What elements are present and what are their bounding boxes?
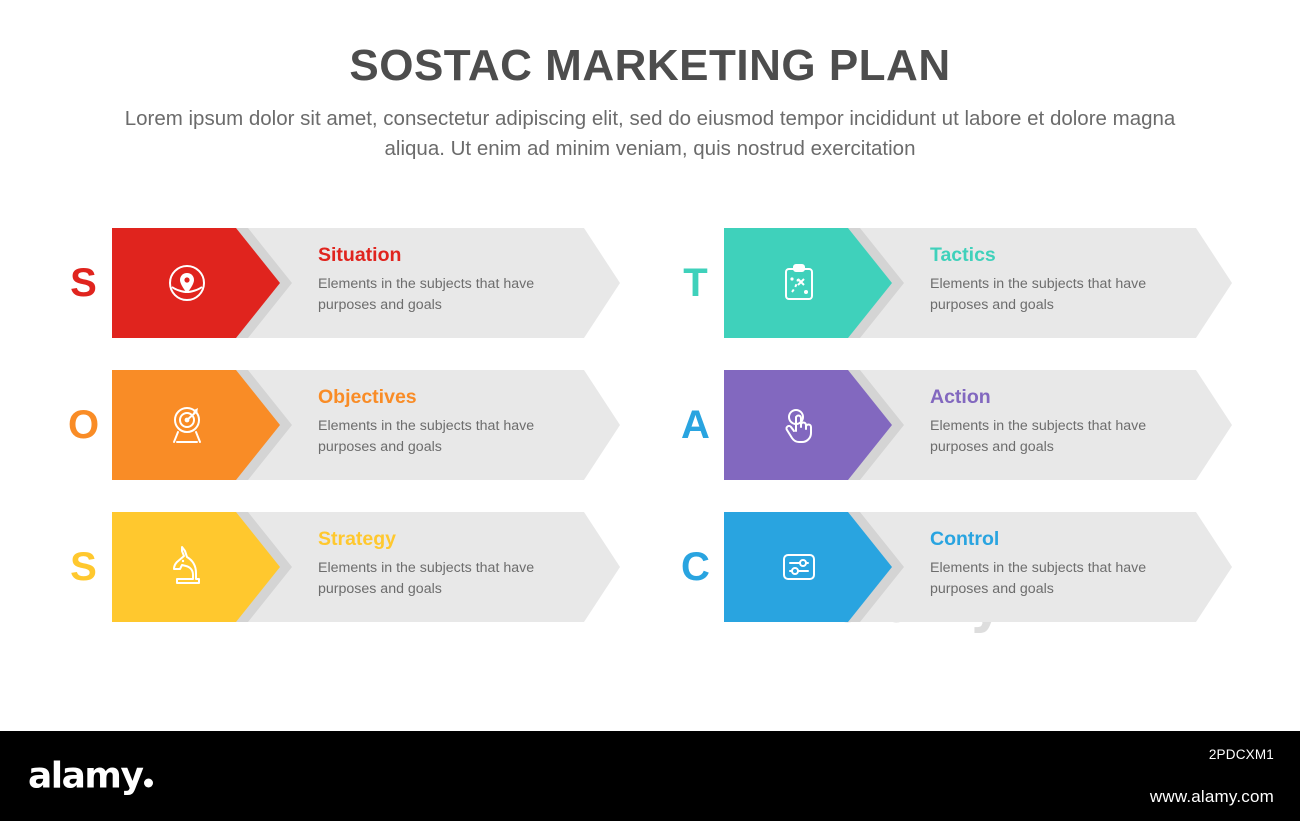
alamy-footer-bar: alamy 2PDCXM1 www.alamy.com <box>0 731 1300 821</box>
item-title: Objectives <box>318 386 568 409</box>
item-title: Situation <box>318 244 568 267</box>
item-text: Control Elements in the subjects that ha… <box>930 528 1180 599</box>
alamy-url-label: www.alamy.com <box>1150 787 1274 807</box>
item-text: Strategy Elements in the subjects that h… <box>318 528 568 599</box>
item-letter-c: C <box>672 547 718 587</box>
item-title: Tactics <box>930 244 1180 267</box>
sostac-item-tactics[interactable]: T Tacti <box>672 228 1232 338</box>
item-text: Tactics Elements in the subjects that ha… <box>930 244 1180 315</box>
alamy-logo-dot <box>144 779 153 788</box>
hand-click-icon <box>773 399 825 451</box>
chess-knight-icon <box>161 541 213 593</box>
sostac-item-objectives[interactable]: O Objec <box>60 370 620 480</box>
item-description: Elements in the subjects that have purpo… <box>318 416 568 457</box>
sostac-item-strategy[interactable]: S Strategy Elements in the subjects that… <box>60 512 620 622</box>
sostac-item-situation[interactable]: S Situation Elements in the <box>60 228 620 338</box>
item-description: Elements in the subjects that have purpo… <box>318 274 568 315</box>
item-description: Elements in the subjects that have purpo… <box>930 274 1180 315</box>
image-id-label: 2PDCXM1 <box>1209 747 1274 762</box>
column-right: T Tacti <box>672 228 1232 648</box>
sliders-settings-icon <box>773 541 825 593</box>
item-description: Elements in the subjects that have purpo… <box>318 558 568 599</box>
item-letter-s2: S <box>60 547 106 587</box>
item-title: Action <box>930 386 1180 409</box>
item-text: Situation Elements in the subjects that … <box>318 244 568 315</box>
sostac-item-action[interactable]: A Action Ele <box>672 370 1232 480</box>
sostac-grid: S Situation Elements in the <box>60 228 1240 648</box>
infographic-canvas: SOSTAC MARKETING PLAN Lorem ipsum dolor … <box>0 0 1300 731</box>
item-title: Strategy <box>318 528 568 551</box>
item-text: Objectives Elements in the subjects that… <box>318 386 568 457</box>
target-dartboard-icon <box>161 399 213 451</box>
page-subtitle: Lorem ipsum dolor sit amet, consectetur … <box>105 104 1195 162</box>
item-description: Elements in the subjects that have purpo… <box>930 558 1180 599</box>
item-letter-s1: S <box>60 263 106 303</box>
alamy-logo-text: alamy <box>28 756 142 797</box>
clipboard-playbook-icon <box>773 257 825 309</box>
page-title: SOSTAC MARKETING PLAN <box>0 0 1300 90</box>
item-text: Action Elements in the subjects that hav… <box>930 386 1180 457</box>
item-title: Control <box>930 528 1180 551</box>
item-description: Elements in the subjects that have purpo… <box>930 416 1180 457</box>
item-letter-t: T <box>672 263 718 303</box>
item-letter-o: O <box>60 405 106 445</box>
location-pin-icon <box>161 257 213 309</box>
column-left: S Situation Elements in the <box>60 228 620 648</box>
item-letter-a: A <box>672 405 718 445</box>
alamy-logo: alamy <box>28 756 153 797</box>
sostac-item-control[interactable]: C Control Elements in the s <box>672 512 1232 622</box>
